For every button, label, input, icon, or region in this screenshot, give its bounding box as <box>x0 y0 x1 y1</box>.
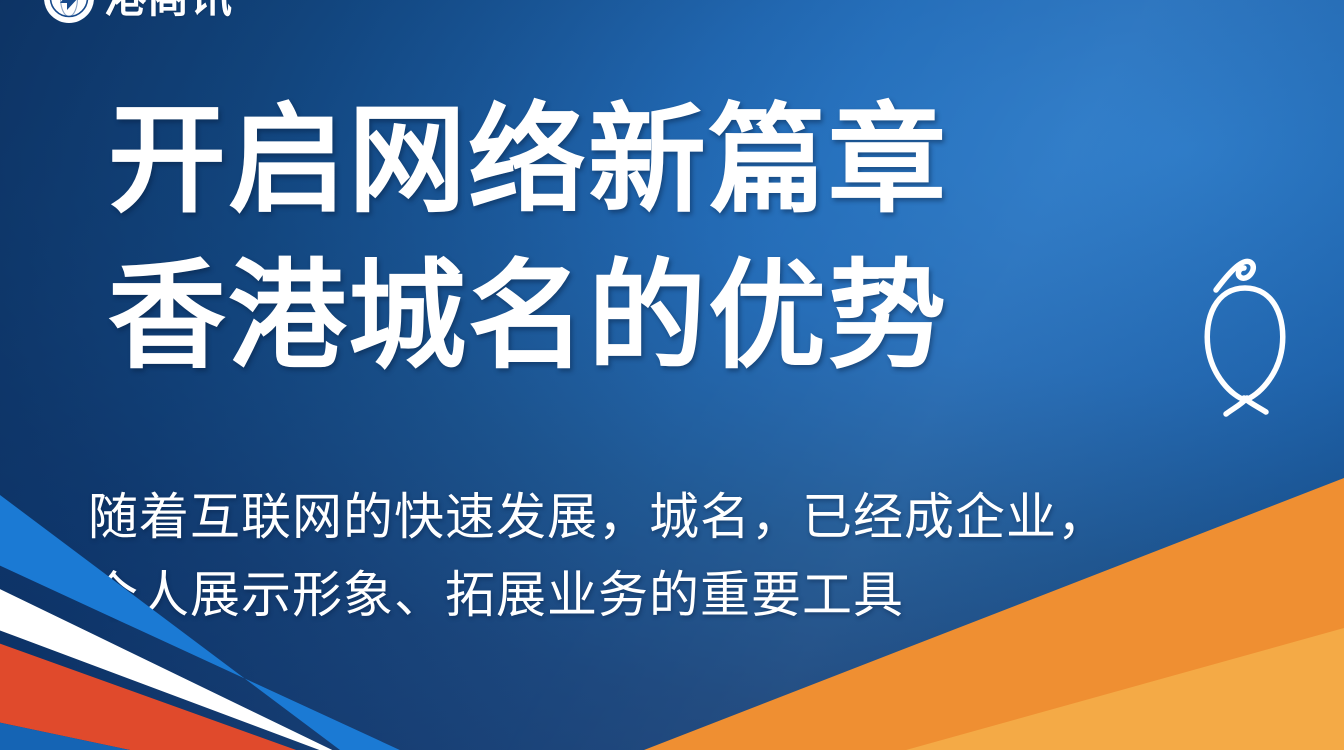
globe-chevron-badge-icon <box>44 0 94 23</box>
brand-logo-text: 港商讯 <box>104 0 233 19</box>
headline-line-1: 开启网络新篇章 <box>108 84 1258 240</box>
subtitle-line-2: 个人展示形象、拓展业务的重要工具 <box>88 556 1268 634</box>
poster-canvas: 港商讯 开启网络新篇章 香港城名的优势 随着互联网的快速发展，城名，已经成企业，… <box>0 0 1344 750</box>
subtitle-line-1: 随着互联网的快速发展，城名，已经成企业， <box>88 478 1268 556</box>
page-subtitle: 随着互联网的快速发展，城名，已经成企业， 个人展示形象、拓展业务的重要工具 <box>88 478 1268 634</box>
headline-line-2: 香港城名的优势 <box>108 240 1258 396</box>
brand-logo[interactable]: 港商讯 <box>44 0 233 26</box>
page-title: 开启网络新篇章 香港城名的优势 <box>108 84 1258 396</box>
